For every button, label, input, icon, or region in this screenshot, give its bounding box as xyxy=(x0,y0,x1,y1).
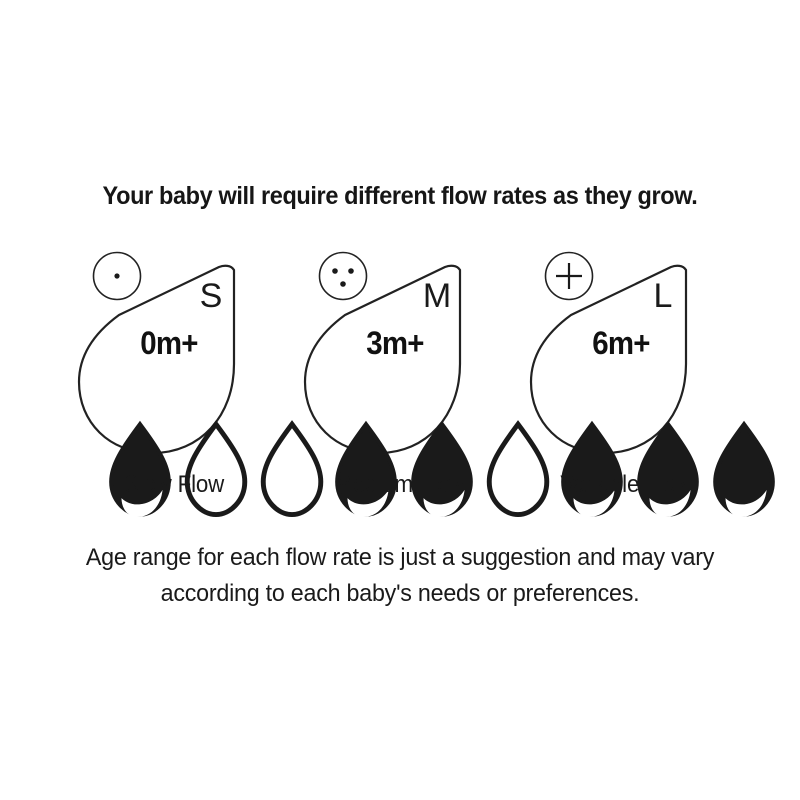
flow-item-variable: L 6m+ Variable Fl xyxy=(513,246,739,506)
droplet-empty-2 xyxy=(187,424,245,514)
flow-label-variable: Variable Flow xyxy=(521,471,731,499)
infographic-page: Your baby will require different flow ra… xyxy=(0,0,800,800)
size-letter-l: L xyxy=(640,277,686,316)
size-letter-m: M xyxy=(414,277,460,316)
nipple-graphic-slow: S 0m+ xyxy=(61,246,287,461)
flow-item-medium: M 3m+ Medium Flow xyxy=(287,246,513,506)
age-range-6m: 6m+ xyxy=(562,325,680,362)
flow-label-slow: Slow Flow xyxy=(69,471,279,499)
flow-item-slow: S 0m+ Slow Flow xyxy=(61,246,287,506)
hole-pattern-circle xyxy=(320,253,367,300)
age-range-3m: 3m+ xyxy=(336,325,454,362)
age-range-0m: 0m+ xyxy=(110,325,228,362)
nipple-graphic-variable: L 6m+ xyxy=(513,246,739,461)
nipple-graphic-medium: M 3m+ xyxy=(287,246,513,461)
size-letter-s: S xyxy=(188,277,234,316)
flow-rate-list: S 0m+ Slow Flow xyxy=(0,246,800,506)
flow-label-medium: Medium Flow xyxy=(295,471,505,499)
page-title: Your baby will require different flow ra… xyxy=(24,182,776,211)
hole-pattern-circle xyxy=(546,253,593,300)
footnote-text: Age range for each flow rate is just a s… xyxy=(58,540,742,612)
hole-pattern-circle xyxy=(94,253,141,300)
